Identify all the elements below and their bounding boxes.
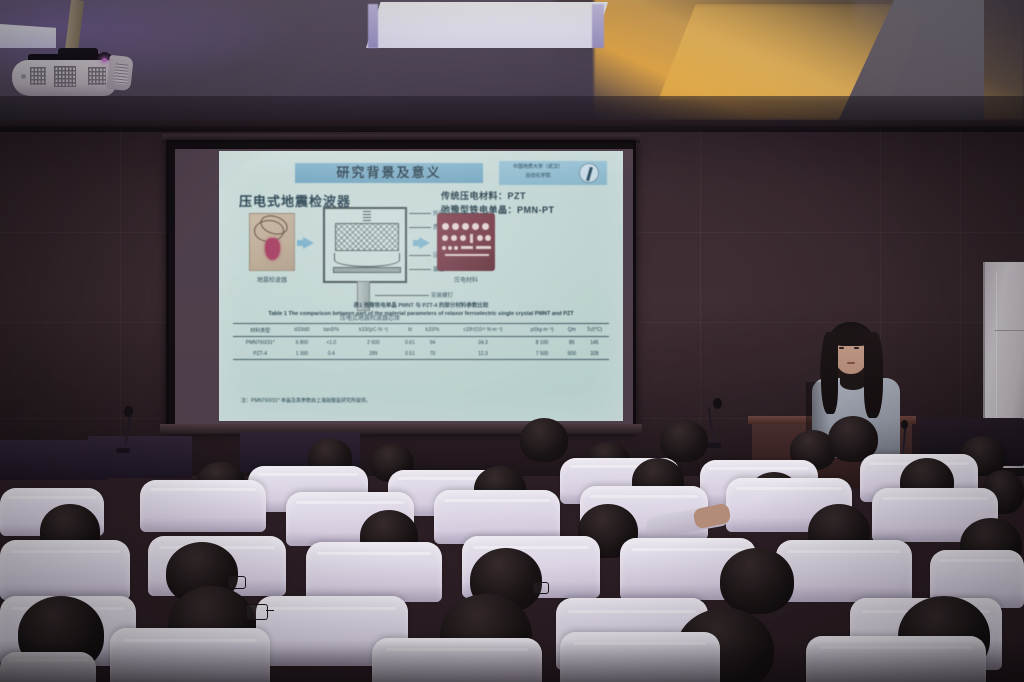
projector-vent-left — [30, 67, 46, 85]
audience-chair — [560, 632, 720, 682]
slide-caption-right: 压电材料 — [431, 275, 501, 284]
piezo-disc — [477, 235, 483, 241]
piezo-disc — [442, 246, 446, 250]
ceiling-light-panel — [366, 2, 608, 48]
table-column-header: Qm — [564, 324, 580, 337]
presenter-eye-right — [854, 347, 859, 349]
piezo-bar — [461, 246, 473, 249]
table-cell: 0.4 — [316, 348, 346, 360]
audience-chair — [0, 540, 130, 600]
table-cell: 6 800 — [287, 337, 316, 349]
projector-power-indicator-icon — [102, 58, 107, 62]
table-cell: 7 500 — [520, 348, 564, 360]
label-leader-line — [375, 295, 429, 296]
projector-vent-center — [54, 66, 76, 87]
audience-chair — [776, 540, 912, 602]
table-column-header: ρ/(kg·m⁻³) — [520, 324, 564, 337]
table-row: PMNT60/31*6 800<1.02 6000.619434.38 1008… — [233, 337, 609, 349]
piezo-disc — [451, 235, 457, 241]
table-cell: 8 100 — [520, 337, 564, 349]
projector-vent-right — [88, 67, 106, 85]
audience-area — [0, 400, 1024, 682]
projector — [10, 36, 180, 116]
presenter-mouth — [847, 362, 855, 364]
piezo-disc — [442, 235, 448, 241]
piezo-disc — [482, 223, 489, 230]
side-door-seam — [995, 330, 1024, 331]
geophone-photo — [249, 213, 295, 271]
table-column-header: 材料类型 — [233, 324, 287, 337]
base-plate — [333, 267, 401, 273]
table-header-row: 材料类型d33/d0tanδ/%k33/(pC·N⁻¹)ktk33/%c33ᴱ/… — [233, 324, 609, 337]
table-column-header: kt — [401, 324, 420, 337]
presenter-eye-left — [839, 347, 844, 349]
audience-head — [660, 420, 708, 462]
mass-block-hatch — [335, 223, 399, 251]
label-leader-line — [409, 227, 431, 228]
table-cell: 500 — [564, 348, 580, 360]
table-cell: 12.3 — [446, 348, 521, 360]
piezo-disc — [472, 223, 479, 230]
table-caption-en: Table 1 The comparison between part of t… — [225, 311, 617, 317]
piezo-disc — [462, 223, 469, 230]
university-emblem-icon — [579, 163, 599, 183]
table-cell: 2 600 — [346, 337, 401, 349]
table-cell: 34.3 — [446, 337, 521, 349]
slide-caption-left: 地震检波器 — [241, 275, 303, 284]
label-leader-line — [409, 213, 431, 214]
material-line-relaxor: 弛豫型铁电单晶：PMN-PT — [441, 203, 555, 216]
piezo-disc — [454, 246, 458, 250]
table-column-header: d33/d0 — [287, 324, 316, 337]
ceiling-light-edge-left — [368, 4, 378, 48]
audience-glasses — [246, 604, 268, 620]
projector-body — [12, 60, 116, 96]
table-caption-cn: 表1 弛豫铁电单晶 PMNT 与 PZT-4 的部分材料参数比较 — [219, 301, 623, 309]
table-column-header: tanδ/% — [316, 324, 346, 337]
flow-arrow-icon — [419, 237, 430, 249]
table-cell: 94 — [419, 337, 445, 349]
slide-logo-text-line2: 自动化学院 — [501, 172, 575, 180]
projector-lens-grille — [113, 63, 129, 84]
projection-screen: 研究背景及意义 中国地质大学（武汉） 自动化学院 压电式地震检波器 地震检波器 — [166, 140, 636, 432]
table-column-header: Tc/(°C) — [580, 324, 609, 337]
lecture-hall-scene: 研究背景及意义 中国地质大学（武汉） 自动化学院 压电式地震检波器 地震检波器 — [0, 0, 1024, 682]
projected-slide: 研究背景及意义 中国地质大学（武汉） 自动化学院 压电式地震检波器 地震检波器 — [219, 151, 623, 421]
table-column-header: k33/(pC·N⁻¹) — [346, 324, 401, 337]
presenter-collar — [840, 376, 866, 390]
audience-chair — [372, 638, 542, 682]
audience-chair — [140, 480, 266, 532]
audience-chair — [0, 652, 96, 682]
table-cell: PMNT60/31* — [233, 337, 287, 349]
slide-title: 研究背景及意义 — [295, 164, 483, 182]
table-cell: 328 — [580, 348, 609, 360]
table-cell: 289 — [346, 348, 401, 360]
table-column-header: k33/% — [419, 324, 445, 337]
table-column-header: c33ᴱ/(10¹⁰ N·m⁻²) — [446, 324, 521, 337]
slide-logo-text-line1: 中国地质大学（武汉） — [501, 163, 575, 171]
audience-head — [720, 548, 794, 614]
audience-head — [520, 418, 568, 462]
projector-logo-dot — [21, 74, 26, 79]
piezo-bar — [470, 234, 473, 243]
audience-chair — [806, 636, 986, 682]
piezo-disc — [448, 246, 452, 250]
table-cell: 0.51 — [401, 348, 420, 360]
table-cell: PZT-4 — [233, 348, 287, 360]
audience-chair — [306, 542, 442, 602]
piezo-disc — [452, 223, 459, 230]
piezo-bar — [476, 246, 491, 249]
piezo-bar — [445, 254, 489, 256]
table-cell: 70 — [419, 348, 445, 360]
piezo-material-photo — [437, 213, 495, 271]
geophone-body — [265, 238, 280, 260]
audience-chair — [110, 628, 270, 682]
diagram-label-screw: 安装螺钉 — [431, 291, 453, 299]
geophone-cross-section — [323, 207, 407, 283]
flow-arrow-icon — [303, 237, 314, 249]
table-cell: 1 300 — [287, 348, 316, 360]
table-cell: 145 — [580, 337, 609, 349]
piezo-element-arc — [334, 253, 400, 267]
piezo-disc — [442, 223, 449, 230]
table-cell: 85 — [564, 337, 580, 349]
label-leader-line — [409, 255, 431, 256]
material-parameters-table: 材料类型d33/d0tanδ/%k33/(pC·N⁻¹)ktk33/%c33ᴱ/… — [233, 323, 609, 360]
label-leader-line — [409, 269, 431, 270]
table-cell: 0.61 — [401, 337, 420, 349]
ceiling-light-edge-right — [592, 4, 604, 48]
audience-glasses — [228, 576, 246, 589]
table-row: PZT-41 3000.42890.517012.37 500500328 — [233, 348, 609, 360]
piezo-disc — [485, 235, 491, 241]
piezo-disc — [460, 235, 466, 241]
table-cell: <1.0 — [316, 337, 346, 349]
audience-glasses — [533, 582, 549, 594]
material-line-traditional: 传统压电材料：PZT — [441, 189, 526, 202]
audience-glasses-bridge — [266, 610, 274, 611]
